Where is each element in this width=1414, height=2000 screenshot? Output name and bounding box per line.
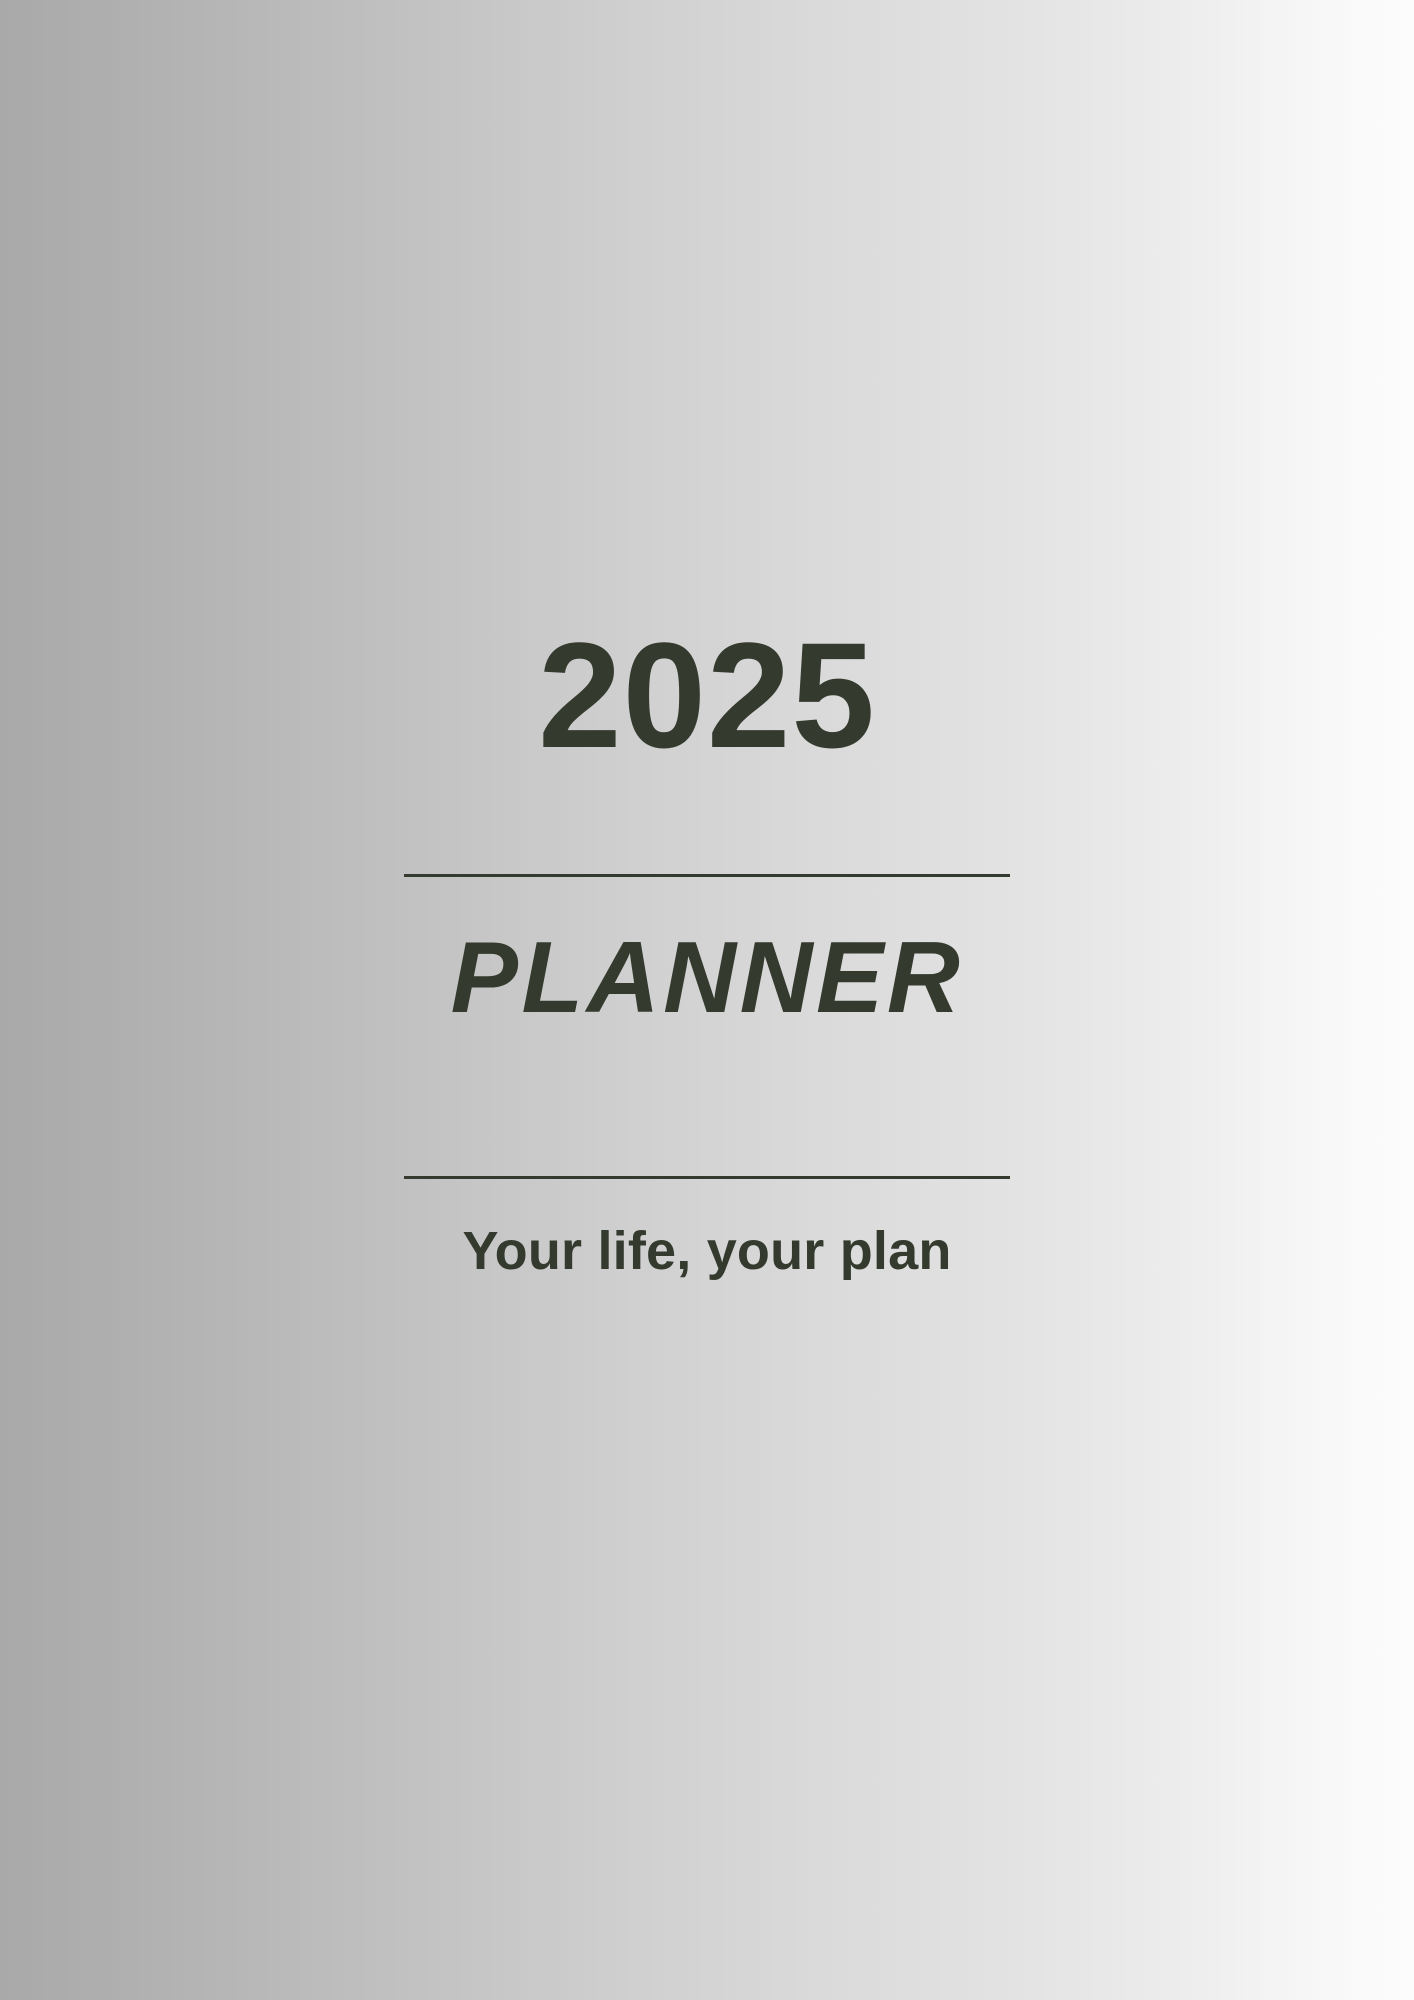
cover-year: 2025 xyxy=(538,620,876,770)
cover-content-block: 2025 PLANNER Your life, your plan xyxy=(0,620,1414,1278)
cover-tagline: Your life, your plan xyxy=(462,1224,951,1278)
divider-below-title xyxy=(404,1176,1010,1179)
planner-cover-page: 2025 PLANNER Your life, your plan xyxy=(0,0,1414,2000)
divider-above-title xyxy=(404,874,1010,877)
cover-title: PLANNER xyxy=(451,928,964,1029)
